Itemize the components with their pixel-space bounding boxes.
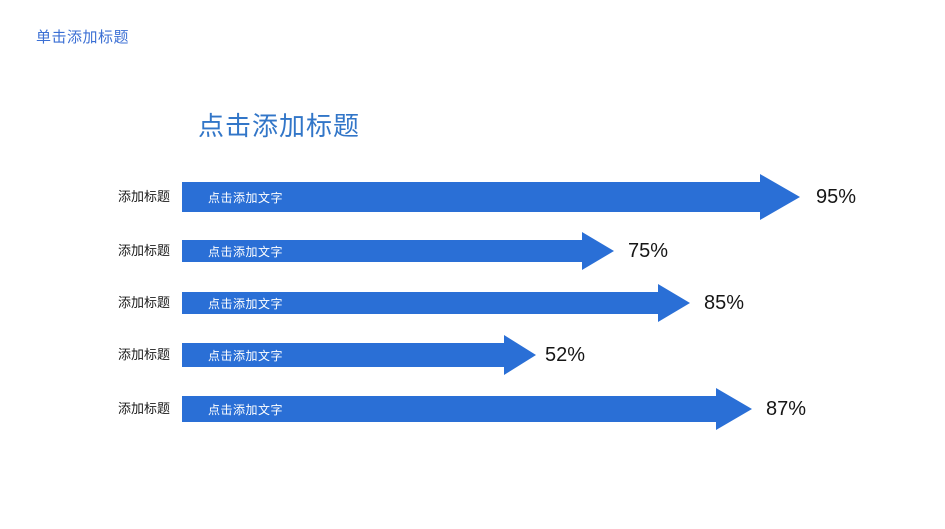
table-row: 添加标题 点击添加文字 85% bbox=[0, 280, 945, 326]
table-row: 添加标题 点击添加文字 95% bbox=[0, 174, 945, 220]
bar-value-label: 95% bbox=[816, 174, 856, 220]
bar-category-label: 添加标题 bbox=[60, 174, 170, 220]
bar-inner-label: 点击添加文字 bbox=[208, 280, 283, 326]
bar-arrow-wrapper[interactable]: 点击添加文字 bbox=[182, 174, 800, 220]
bar-value-label: 85% bbox=[704, 280, 744, 326]
bar-arrow-wrapper[interactable]: 点击添加文字 bbox=[182, 386, 752, 432]
bar-value-label: 75% bbox=[628, 228, 668, 274]
bar-category-label: 添加标题 bbox=[60, 280, 170, 326]
table-row: 添加标题 点击添加文字 87% bbox=[0, 386, 945, 432]
slide-header-title: 单击添加标题 bbox=[36, 26, 129, 47]
bar-category-label: 添加标题 bbox=[60, 386, 170, 432]
bar-arrow-wrapper[interactable]: 点击添加文字 bbox=[182, 228, 614, 274]
bar-category-label: 添加标题 bbox=[60, 228, 170, 274]
bar-arrow-wrapper[interactable]: 点击添加文字 bbox=[182, 280, 690, 326]
bar-value-label: 52% bbox=[545, 332, 585, 378]
page-title: 点击添加标题 bbox=[198, 106, 360, 143]
slide-canvas: 单击添加标题 点击添加标题 添加标题 点击添加文字 95% 添加标题 点击添加文… bbox=[0, 0, 945, 529]
bar-category-label: 添加标题 bbox=[60, 332, 170, 378]
table-row: 添加标题 点击添加文字 75% bbox=[0, 228, 945, 274]
bar-arrow-wrapper[interactable]: 点击添加文字 bbox=[182, 332, 536, 378]
table-row: 添加标题 点击添加文字 52% bbox=[0, 332, 945, 378]
bar-value-label: 87% bbox=[766, 386, 806, 432]
bar-inner-label: 点击添加文字 bbox=[208, 332, 283, 378]
bar-inner-label: 点击添加文字 bbox=[208, 174, 283, 220]
arrow-bar-chart: 添加标题 点击添加文字 95% 添加标题 点击添加文字 75% 添加标题 bbox=[0, 160, 945, 460]
bar-inner-label: 点击添加文字 bbox=[208, 228, 283, 274]
bar-inner-label: 点击添加文字 bbox=[208, 386, 283, 432]
